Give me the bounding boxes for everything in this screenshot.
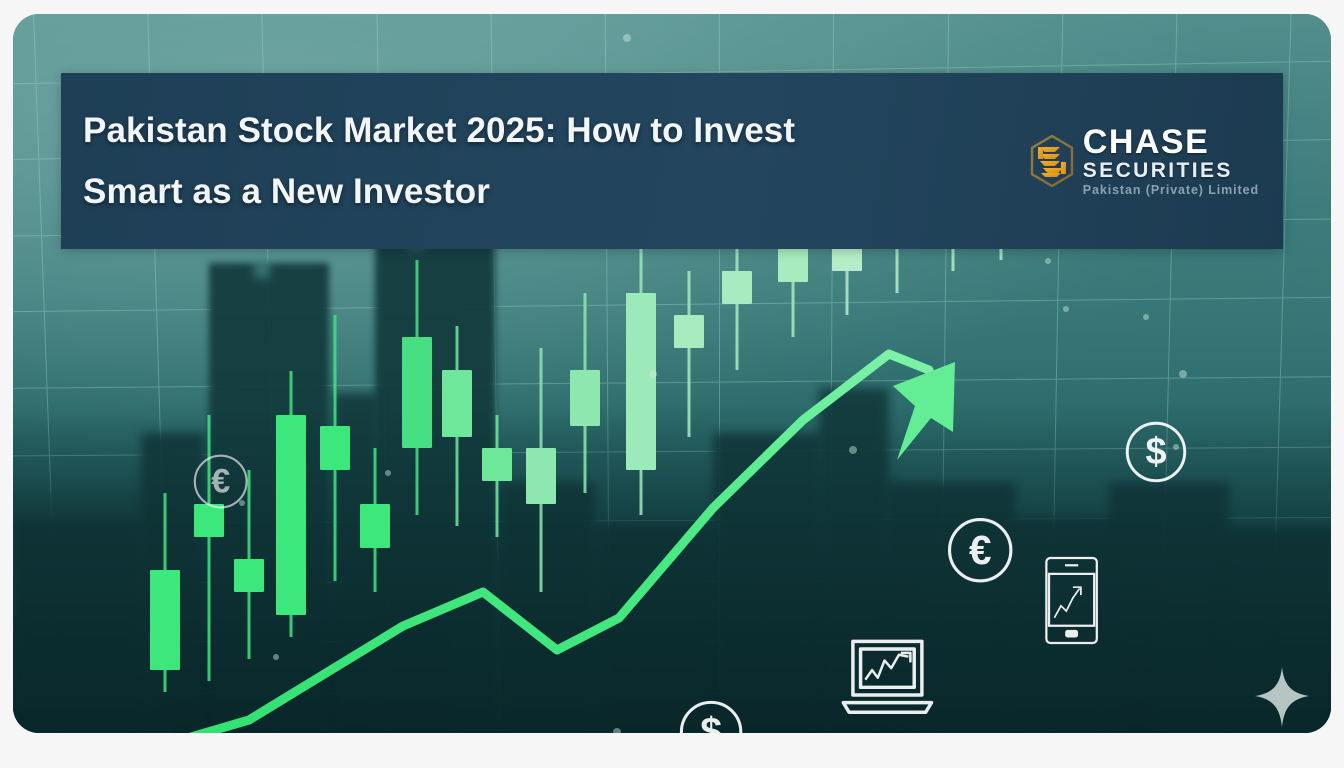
bokeh-speck <box>385 470 391 476</box>
screenshot-root: €€$$ Pakistan Stock Market 2025: How to … <box>0 0 1344 768</box>
bokeh-speck <box>1173 444 1179 450</box>
title-line-2: Smart as a New Investor <box>83 161 795 222</box>
bokeh-speck <box>1143 314 1149 320</box>
svg-text:€: € <box>211 463 230 501</box>
laptop-chart-icon <box>839 626 936 733</box>
chase-securities-logo[interactable]: CHASE SECURITIES Pakistan (Private) Limi… <box>1030 125 1259 197</box>
euro-coin-icon: € <box>945 514 1015 605</box>
bokeh-speck <box>1045 258 1051 264</box>
dollar-coin-icon: $ <box>1123 418 1189 504</box>
hexagon-s-logo-icon <box>1030 135 1074 187</box>
bokeh-speck <box>613 728 621 733</box>
page-title: Pakistan Stock Market 2025: How to Inves… <box>83 100 795 223</box>
bokeh-speck <box>623 34 631 42</box>
sparkle-star-icon <box>1255 667 1309 727</box>
logo-wordmark: CHASE SECURITIES Pakistan (Private) Limi… <box>1083 125 1259 197</box>
dollar-coin-icon: $ <box>677 697 745 733</box>
bokeh-speck <box>649 370 657 378</box>
euro-coin-icon: € <box>191 451 250 529</box>
bokeh-speck <box>1063 306 1069 312</box>
title-banner: Pakistan Stock Market 2025: How to Inves… <box>61 73 1283 249</box>
bokeh-speck <box>239 500 245 506</box>
logo-tagline-text: Pakistan (Private) Limited <box>1083 184 1259 197</box>
svg-text:€: € <box>969 527 991 573</box>
title-line-1: Pakistan Stock Market 2025: How to Inves… <box>83 111 795 150</box>
svg-text:$: $ <box>1145 431 1166 473</box>
bokeh-speck <box>1179 370 1187 378</box>
smartphone-chart-icon <box>1045 554 1098 652</box>
logo-subbrand-text: SECURITIES <box>1083 160 1259 181</box>
svg-text:$: $ <box>700 711 722 733</box>
bokeh-speck <box>273 654 279 660</box>
logo-brand-text: CHASE <box>1083 125 1259 159</box>
hero-banner-image: €€$$ Pakistan Stock Market 2025: How to … <box>13 14 1331 733</box>
bokeh-speck <box>849 446 857 454</box>
